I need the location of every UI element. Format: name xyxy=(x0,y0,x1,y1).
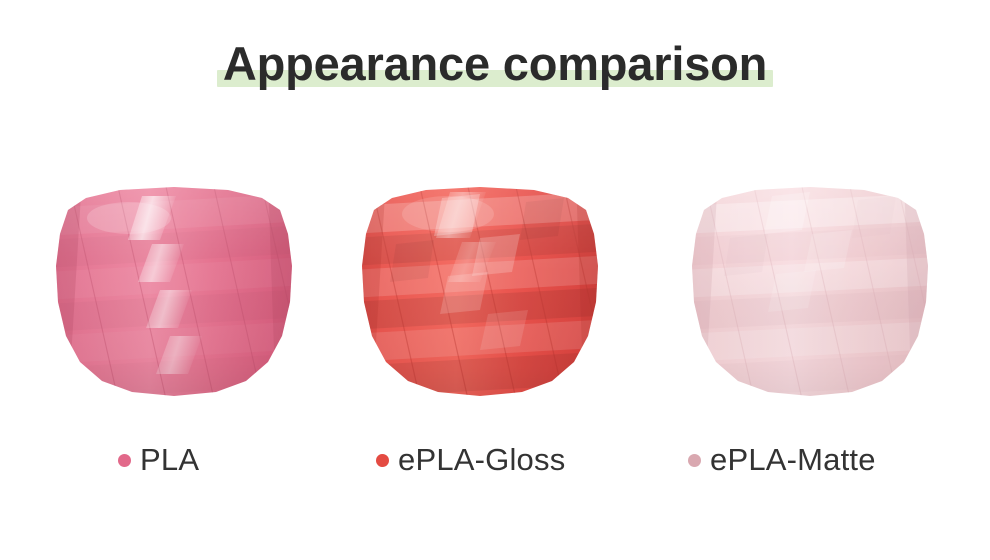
legend-label-epla-matte: ePLA-Matte xyxy=(710,443,876,477)
vase-epla-gloss xyxy=(330,178,630,408)
page-title: Appearance comparison xyxy=(0,34,990,100)
vase-pla xyxy=(24,178,324,408)
page-title-inner: Appearance comparison xyxy=(217,34,773,94)
legend-item-pla[interactable]: PLA xyxy=(118,438,199,482)
page-title-text: Appearance comparison xyxy=(223,37,767,90)
vase-comparison-row xyxy=(0,178,990,418)
vase-pla-illustration xyxy=(24,178,324,408)
vase-epla-matte-surface xyxy=(660,178,960,408)
legend-dot-icon-epla-matte xyxy=(688,454,701,467)
vase-epla-matte-illustration xyxy=(660,178,960,408)
legend-dot-icon-epla-gloss xyxy=(376,454,389,467)
vase-epla-gloss-illustration xyxy=(330,178,630,408)
vase-epla-matte xyxy=(660,178,960,408)
legend-label-pla: PLA xyxy=(140,443,199,477)
appearance-comparison-page: Appearance comparison xyxy=(0,0,990,560)
legend-dot-icon-pla xyxy=(118,454,131,467)
legend: PLA ePLA-Gloss ePLA-Matte xyxy=(0,438,990,486)
legend-item-epla-gloss[interactable]: ePLA-Gloss xyxy=(376,438,565,482)
legend-item-epla-matte[interactable]: ePLA-Matte xyxy=(688,438,876,482)
vase-pla-surface xyxy=(24,178,324,408)
legend-label-epla-gloss: ePLA-Gloss xyxy=(398,443,565,477)
vase-epla-gloss-surface xyxy=(330,178,630,408)
